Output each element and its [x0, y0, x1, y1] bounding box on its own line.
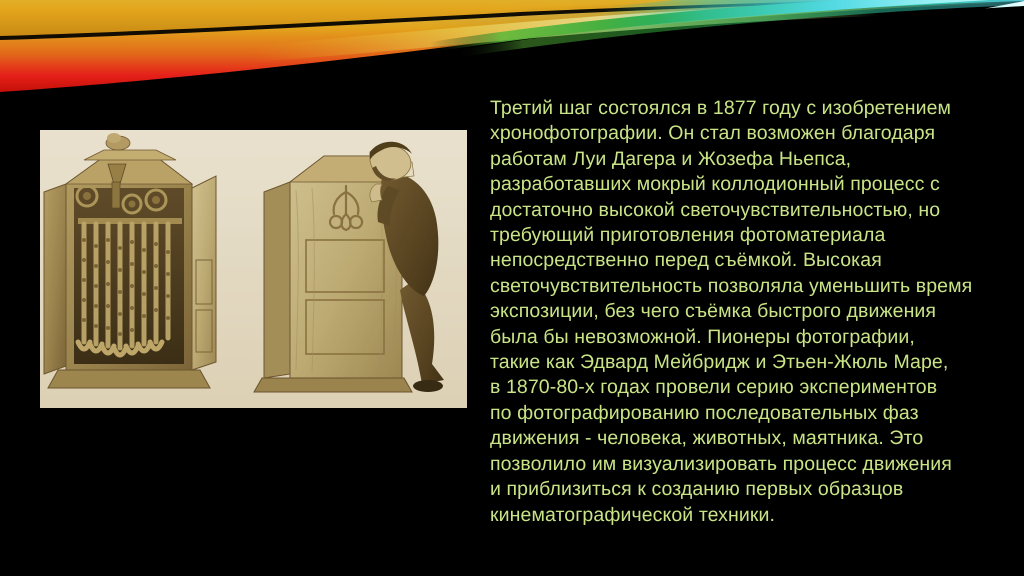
cyan-edge-streak-2 — [955, 17, 1024, 44]
cyan-edge-streak-1 — [905, 1, 1024, 30]
green-ribbon-glow — [455, 0, 1024, 58]
warm-lower-ribbon — [0, 0, 1024, 92]
kinetoscope-photo — [40, 130, 467, 408]
sepia-wash — [40, 130, 467, 408]
pale-highlight-band — [250, 3, 880, 62]
warm-split-line — [0, 0, 1024, 40]
cyan-ribbon-lower — [880, 2, 1024, 56]
warm-upper-ribbon — [0, 0, 1024, 36]
cyan-ribbon — [600, 0, 1024, 30]
green-ribbon — [430, 0, 1024, 52]
presentation-slide: Третий шаг состоялся в 1877 году с изобр… — [0, 0, 1024, 576]
kinetoscope-illustration — [40, 130, 467, 408]
slide-body-text: Третий шаг состоялся в 1877 году с изобр… — [490, 96, 1002, 528]
